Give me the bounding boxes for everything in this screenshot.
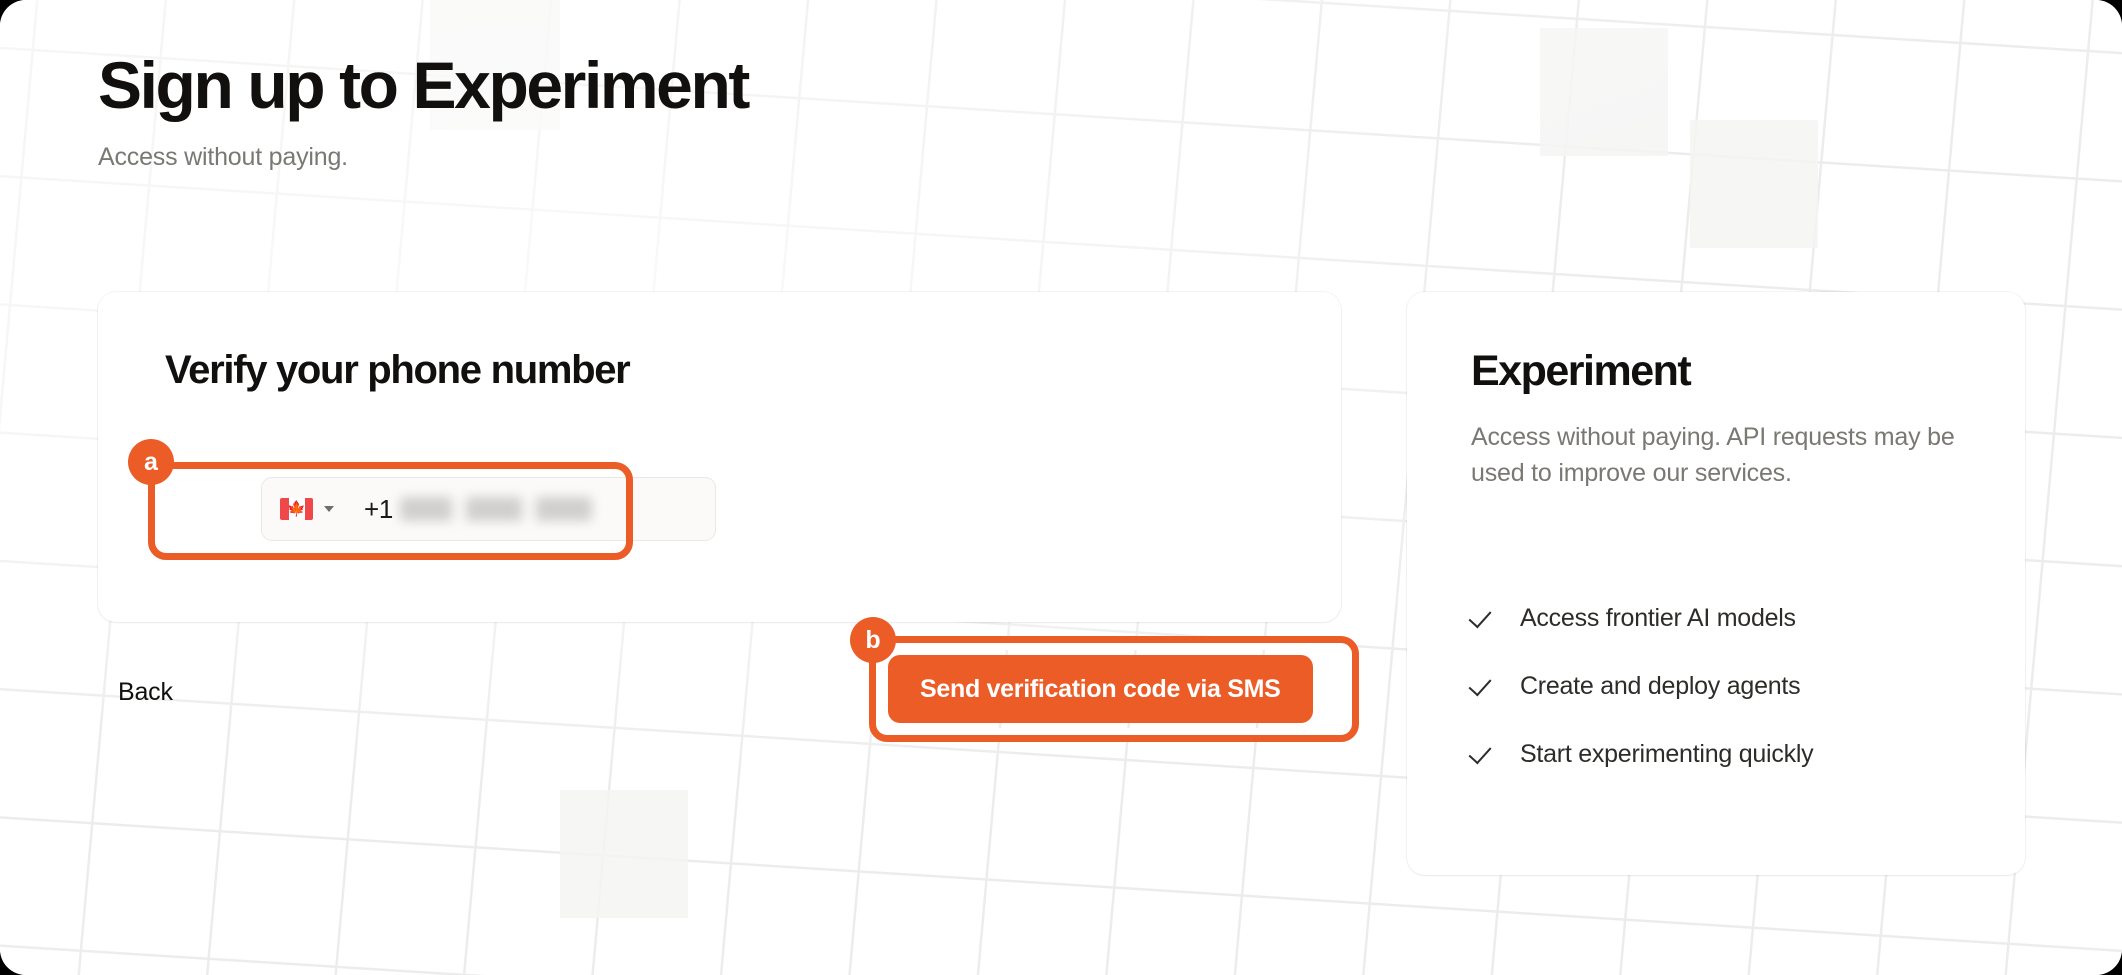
grid-blotch: [1690, 120, 1818, 248]
grid-blotch: [560, 790, 688, 918]
phone-input[interactable]: 🍁 +1: [261, 477, 716, 541]
plan-feature-list: Access frontier AI models Create and dep…: [1471, 584, 1981, 788]
annotation-badge-a: a: [128, 439, 174, 485]
list-item: Start experimenting quickly: [1471, 720, 1981, 788]
plan-summary-card: Experiment Access without paying. API re…: [1407, 292, 2025, 875]
send-verification-button[interactable]: Send verification code via SMS: [888, 655, 1313, 723]
phone-number-value[interactable]: [400, 497, 592, 521]
chevron-down-icon[interactable]: [324, 506, 334, 512]
verify-phone-card: Verify your phone number 🍁 +1: [98, 292, 1341, 622]
feature-label: Access frontier AI models: [1520, 604, 1796, 633]
list-item: Create and deploy agents: [1471, 652, 1981, 720]
list-item: Access frontier AI models: [1471, 584, 1981, 652]
dial-code-label: +1: [364, 494, 393, 525]
page-subtitle: Access without paying.: [98, 142, 748, 172]
page-title: Sign up to Experiment: [98, 52, 748, 118]
check-icon: [1471, 605, 1497, 631]
check-icon: [1471, 673, 1497, 699]
page-header: Sign up to Experiment Access without pay…: [98, 52, 748, 172]
card-heading: Verify your phone number: [165, 348, 629, 393]
plan-title: Experiment: [1471, 347, 1690, 396]
back-link[interactable]: Back: [118, 678, 173, 707]
plan-description: Access without paying. API requests may …: [1471, 420, 1971, 492]
canada-flag-icon: 🍁: [280, 498, 313, 520]
grid-blotch: [1540, 28, 1668, 156]
feature-label: Create and deploy agents: [1520, 672, 1800, 701]
annotation-badge-b: b: [850, 617, 896, 663]
signup-page: Sign up to Experiment Access without pay…: [0, 0, 2122, 975]
check-icon: [1471, 741, 1497, 767]
feature-label: Start experimenting quickly: [1520, 740, 1813, 769]
